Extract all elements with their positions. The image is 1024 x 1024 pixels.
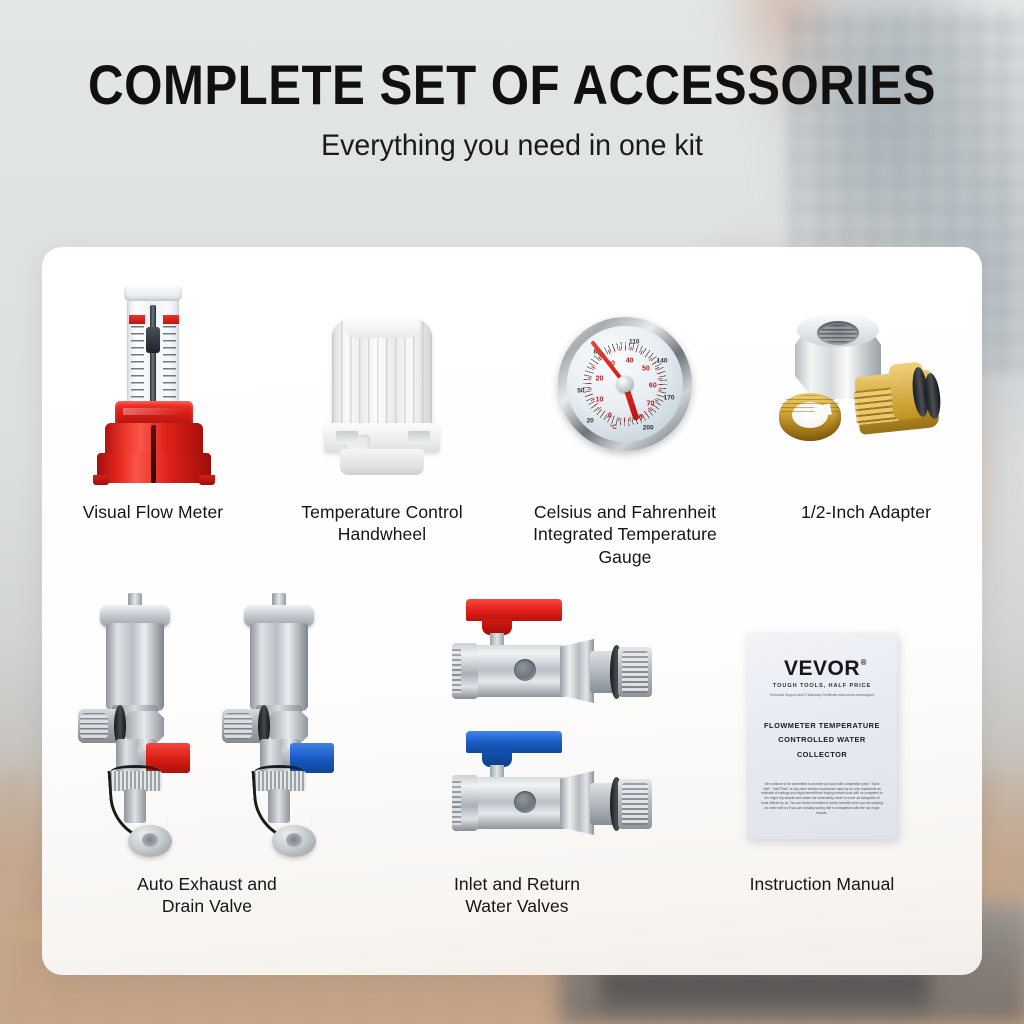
accessories-row-bottom: Auto Exhaust and Drain Valve xyxy=(42,589,982,929)
ball-valve-side-port-red xyxy=(514,659,536,681)
gauge-celsius-10: 10 xyxy=(596,397,604,404)
auto-exhaust-barrel-right xyxy=(250,623,308,711)
caption-instruction-manual: Instruction Manual xyxy=(750,873,895,895)
page-title: COMPLETE SET OF ACCESSORIES xyxy=(61,56,962,115)
caption-auto-exhaust: Auto Exhaust and Drain Valve xyxy=(137,873,277,918)
page-subtitle: Everything you need in one kit xyxy=(26,129,999,163)
adapter-nut-threads xyxy=(819,325,857,343)
gauge-celsius-60: 60 xyxy=(649,383,657,390)
item-temperature-control-handwheel[interactable]: Temperature Control Handwheel xyxy=(264,273,500,583)
flow-meter-scale-left xyxy=(131,319,144,407)
handwheel-stage xyxy=(264,273,500,479)
ball-valve-female-end-red xyxy=(452,643,478,699)
accessories-card: Visual Flow Meter Temperature Control Ha… xyxy=(42,247,982,975)
flow-meter-red-marker-left xyxy=(129,315,145,324)
ball-valve-male-end-red xyxy=(618,647,652,697)
vevor-logo-text: VEVOR xyxy=(784,657,860,680)
vevor-trademark: ® xyxy=(861,658,867,667)
caption-temperature-gauge: Celsius and Fahrenheit Integrated Temper… xyxy=(533,501,717,568)
gauge-fahrenheit-50: 50 xyxy=(577,387,584,394)
auto-exhaust-port-threads-left xyxy=(80,713,108,739)
handwheel-base xyxy=(340,449,424,475)
flow-meter-float-rod xyxy=(150,305,156,409)
caption-gauge-line1: Celsius and Fahrenheit xyxy=(533,501,717,523)
ball-valve-icon-red xyxy=(452,599,662,719)
item-visual-flow-meter[interactable]: Visual Flow Meter xyxy=(42,273,264,583)
flow-meter-foot-left xyxy=(93,475,109,485)
item-auto-exhaust-drain-valve[interactable]: Auto Exhaust and Drain Valve xyxy=(42,589,372,929)
flow-meter-red-marker-right xyxy=(163,315,179,324)
header-block: COMPLETE SET OF ACCESSORIES Everything y… xyxy=(0,56,1024,163)
manual-title-line2: CONTROLLED WATER COLLECTOR xyxy=(761,733,883,761)
adapter-icon xyxy=(771,311,961,461)
ball-valve-red-handle[interactable] xyxy=(466,599,562,621)
item-inlet-return-water-valves[interactable]: Inlet and Return Water Valves xyxy=(372,589,662,929)
flow-meter-scale-right xyxy=(163,319,176,407)
auto-exhaust-port-threads-right xyxy=(224,713,252,739)
caption-visual-flow-meter: Visual Flow Meter xyxy=(83,501,223,523)
gauge-fahrenheit-20: 20 xyxy=(587,418,594,425)
background-tool-case-shadow xyxy=(600,970,930,1014)
caption-water-valves-line2: Water Valves xyxy=(454,895,580,917)
ball-valve-union-nut-blue xyxy=(560,771,594,835)
manual-fine-print: Technical Support and E-Warranty Certifi… xyxy=(770,693,874,697)
item-temperature-gauge[interactable]: 0 10 20 30 40 50 60 70 80 °C 20 50 80 11… xyxy=(500,273,750,583)
auto-exhaust-stage xyxy=(42,589,372,861)
caption-gauge-line3: Gauge xyxy=(533,546,717,568)
flow-meter-slot xyxy=(151,425,156,483)
vevor-logo: VEVOR® xyxy=(784,657,860,681)
gauge-fahrenheit-140: 140 xyxy=(657,357,668,364)
handwheel-window-left xyxy=(336,431,358,444)
auto-exhaust-valve-icon xyxy=(80,593,190,861)
caption-handwheel-line2: Handwheel xyxy=(301,523,462,545)
accessories-row-top: Visual Flow Meter Temperature Control Ha… xyxy=(42,273,982,583)
flow-meter-icon xyxy=(93,289,213,479)
manual-title: FLOWMETER TEMPERATURE CONTROLLED WATER C… xyxy=(761,719,883,761)
ball-valve-male-end-blue xyxy=(618,779,652,829)
gauge-celsius-0: 0 xyxy=(608,413,612,420)
handwheel-window-right xyxy=(408,431,430,444)
caption-auto-exhaust-line2: Drain Valve xyxy=(137,895,277,917)
manual-stage: VEVOR® TOUGH TOOLS, HALF PRICE Technical… xyxy=(662,589,982,861)
caption-handwheel: Temperature Control Handwheel xyxy=(301,501,462,546)
caption-gauge-line2: Integrated Temperature xyxy=(533,523,717,545)
auto-exhaust-cap-disc-right xyxy=(272,825,316,857)
auto-exhaust-cap-disc-left xyxy=(128,825,172,857)
ball-valve-union-nut-red xyxy=(560,639,594,703)
gauge-face: 0 10 20 30 40 50 60 70 80 °C 20 50 80 11… xyxy=(567,326,683,442)
gauge-celsius-50: 50 xyxy=(642,365,650,372)
gauge-hub xyxy=(617,376,634,393)
ball-valve-female-end-blue xyxy=(452,775,478,831)
ball-valve-icon-blue xyxy=(452,731,662,851)
caption-water-valves: Inlet and Return Water Valves xyxy=(454,873,580,918)
flow-meter-cap xyxy=(124,285,182,301)
handwheel-icon xyxy=(318,319,446,479)
gauge-celsius-40: 40 xyxy=(626,357,634,364)
ball-valve-blue-handle[interactable] xyxy=(466,731,562,753)
flow-meter-float xyxy=(146,327,160,353)
gauge-stage: 0 10 20 30 40 50 60 70 80 °C 20 50 80 11… xyxy=(500,273,750,479)
temperature-gauge-icon: 0 10 20 30 40 50 60 70 80 °C 20 50 80 11… xyxy=(558,317,692,451)
ball-valve-stage xyxy=(372,589,662,861)
caption-adapter: 1/2-Inch Adapter xyxy=(801,501,931,523)
adapter-stage xyxy=(750,273,982,479)
caption-handwheel-line1: Temperature Control xyxy=(301,501,462,523)
gauge-fahrenheit-200: 200 xyxy=(643,425,654,432)
manual-body-text: We continue to be committed to provide y… xyxy=(761,782,883,817)
flow-meter-stage xyxy=(42,273,264,479)
gauge-fahrenheit-170: 170 xyxy=(664,394,675,401)
handwheel-top-bevel xyxy=(344,316,420,338)
flow-meter-foot-right xyxy=(199,475,215,485)
item-half-inch-adapter[interactable]: 1/2-Inch Adapter xyxy=(750,273,982,583)
ball-valve-side-port-blue xyxy=(514,791,536,813)
manual-title-line1: FLOWMETER TEMPERATURE xyxy=(761,719,883,733)
gauge-celsius-unit: °C xyxy=(610,425,617,431)
gauge-celsius-70: 70 xyxy=(647,400,655,407)
caption-water-valves-line1: Inlet and Return xyxy=(454,873,580,895)
auto-exhaust-valve-icon-blue xyxy=(224,593,334,861)
gauge-fahrenheit-110: 110 xyxy=(629,339,640,346)
gauge-celsius-20: 20 xyxy=(596,376,604,383)
auto-exhaust-barrel-left xyxy=(106,623,164,711)
manual-tagline: TOUGH TOOLS, HALF PRICE xyxy=(773,683,871,689)
item-instruction-manual[interactable]: VEVOR® TOUGH TOOLS, HALF PRICE Technical… xyxy=(662,589,982,929)
manual-icon: VEVOR® TOUGH TOOLS, HALF PRICE Technical… xyxy=(747,633,897,839)
caption-auto-exhaust-line1: Auto Exhaust and xyxy=(137,873,277,895)
